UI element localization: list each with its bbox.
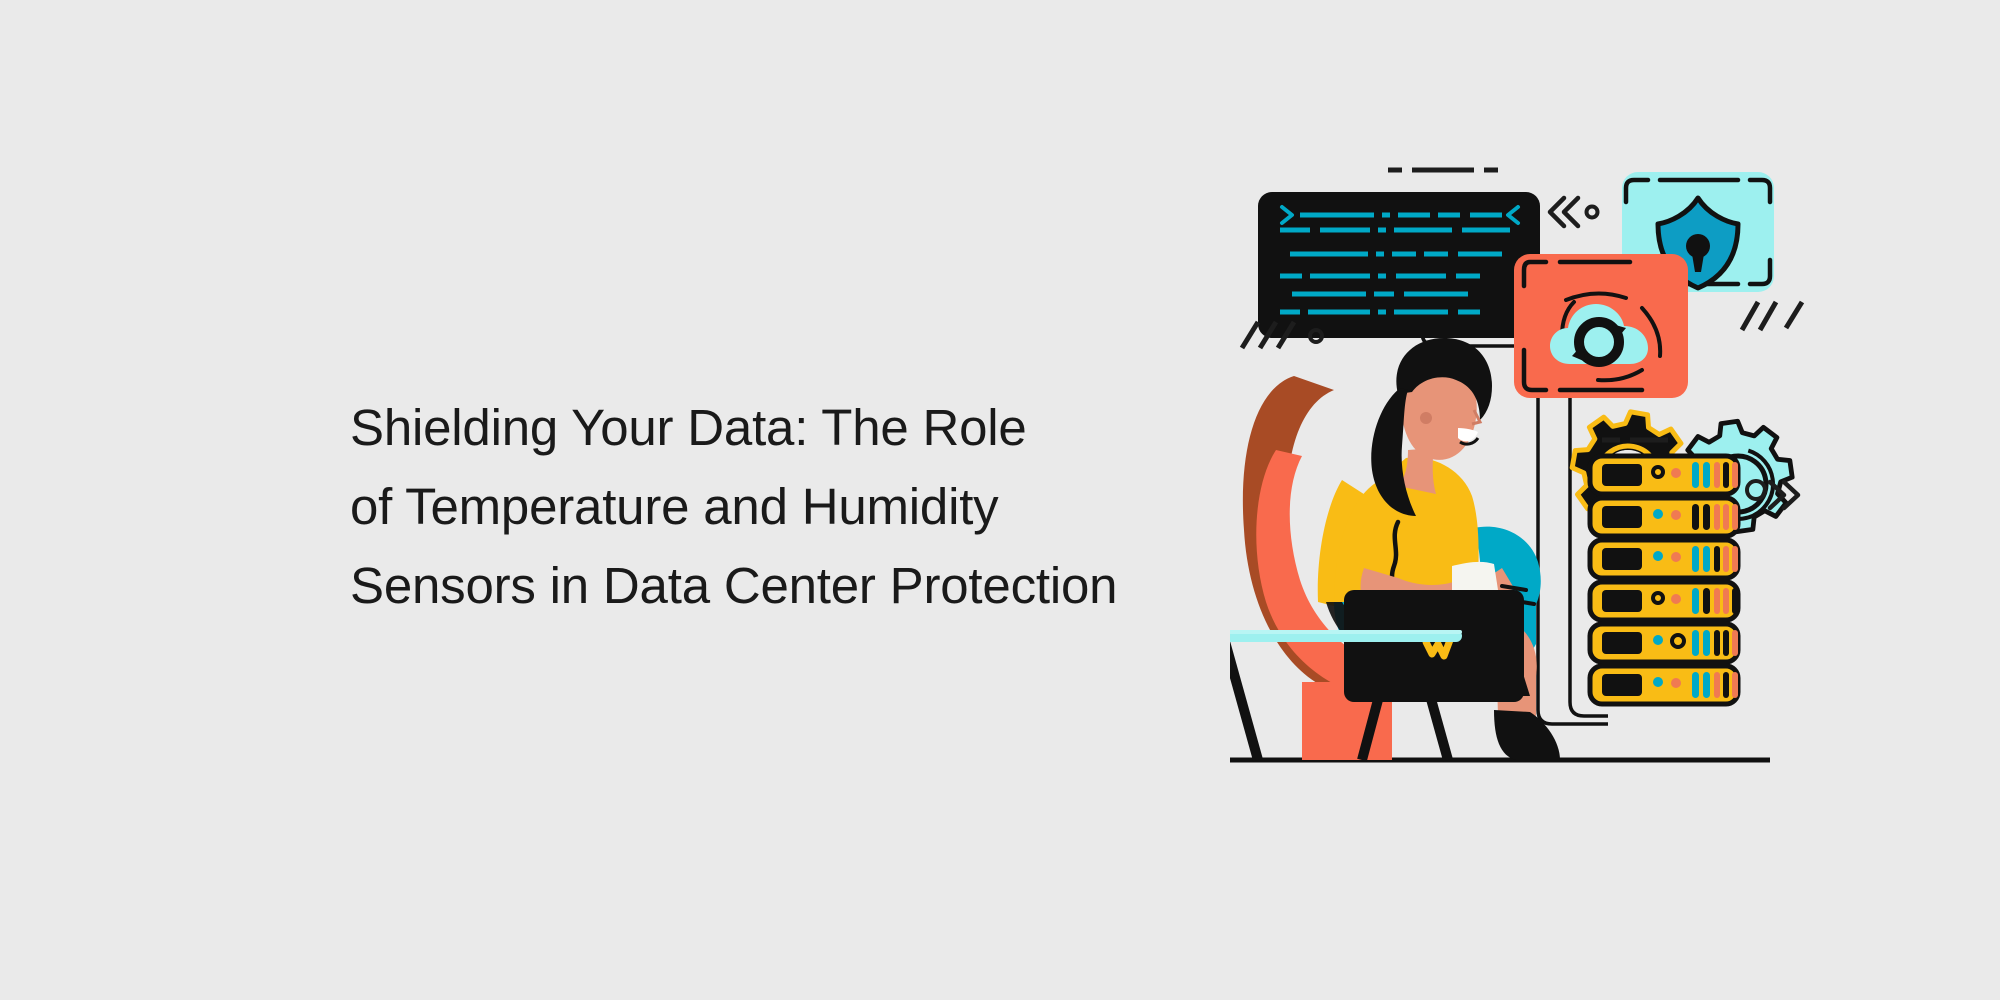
hero-banner: Shielding Your Data: The Role of Tempera… xyxy=(0,0,2000,1000)
decor-circle-small xyxy=(1587,207,1598,218)
server-rack xyxy=(1590,456,1738,704)
server-unit xyxy=(1590,582,1738,620)
server-unit xyxy=(1590,624,1738,662)
code-terminal-window xyxy=(1258,192,1540,338)
cloud-sync-card xyxy=(1514,254,1688,398)
server-unit xyxy=(1590,498,1738,536)
server-unit xyxy=(1590,540,1738,578)
page-title: Shielding Your Data: The Role of Tempera… xyxy=(350,388,1250,625)
decor-chevron-left-icon xyxy=(1550,198,1578,226)
hero-illustration xyxy=(1230,150,1970,790)
server-unit xyxy=(1590,666,1738,704)
decor-slashes-right xyxy=(1742,302,1802,330)
laptop xyxy=(1344,590,1530,702)
headline-block: Shielding Your Data: The Role of Tempera… xyxy=(350,388,1250,625)
desk-top xyxy=(1230,630,1462,642)
server-unit xyxy=(1590,456,1738,494)
